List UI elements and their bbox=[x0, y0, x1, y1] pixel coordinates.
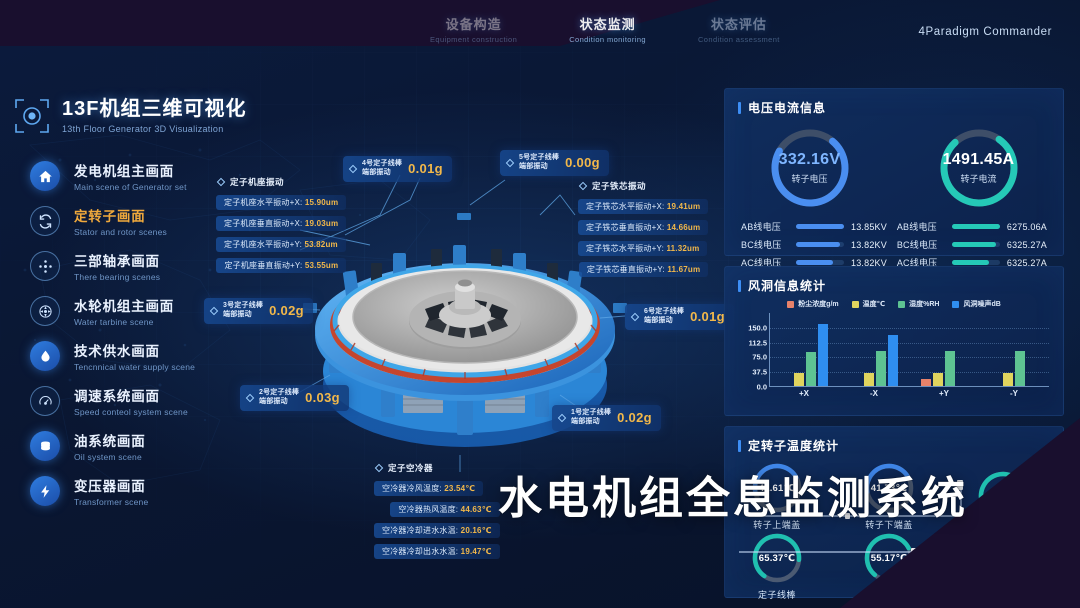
panel-header: 电压电流信息 bbox=[725, 89, 1063, 116]
bar-temperature bbox=[933, 373, 943, 386]
tab-equipment-construction[interactable]: 设备构造 Equipment construction bbox=[430, 14, 517, 44]
row-label: AB线电压 bbox=[741, 220, 789, 233]
gauge-label: 转子电压 bbox=[791, 172, 827, 185]
callout-label-line1: 2号定子线棒 bbox=[259, 389, 299, 398]
sidebar-item-label-en: Tencnnical water supply scene bbox=[74, 362, 195, 372]
row-bar bbox=[796, 260, 844, 265]
bar-group-plus-x bbox=[770, 313, 840, 386]
databox-row: 定子铁芯垂直振动+Y: 11.67um bbox=[579, 262, 708, 277]
bar-chart: 0.0 37.5 75.0 112.5 150.0 bbox=[733, 313, 1057, 405]
legend-item-noise: 风洞噪声dB bbox=[952, 299, 1000, 309]
sidebar-item-label-cn: 技术供水画面 bbox=[74, 340, 195, 360]
diamond-bullet-icon bbox=[579, 182, 587, 190]
y-tick-label: 75.0 bbox=[752, 353, 767, 362]
value-row-ab-current: AB线电压 6275.06A bbox=[897, 220, 1047, 233]
panel-accent-bar bbox=[738, 280, 741, 292]
value-row-bc-current: BC线电压 6325.27A bbox=[897, 238, 1047, 251]
temp-value: 65.37℃ bbox=[749, 530, 805, 586]
bar-temperature bbox=[794, 373, 804, 386]
databox-row-value: 44.63℃ bbox=[461, 505, 492, 514]
sidebar-item-label-cn: 定转子画面 bbox=[74, 205, 167, 225]
sidebar-item-label-en: Oil system scene bbox=[74, 452, 146, 462]
legend-label: 粉尘浓度g/m bbox=[798, 299, 838, 309]
chart-x-axis: +X -X +Y -Y bbox=[769, 389, 1049, 398]
legend-item-dust: 粉尘浓度g/m bbox=[787, 299, 838, 309]
sidebar-item-transformer[interactable]: 变压器画面 Transformer scene bbox=[14, 475, 264, 507]
app-stage: 设备构造 Equipment construction 状态监测 Conditi… bbox=[0, 0, 1080, 608]
databox-rows: 空冷器冷风温度: 23.54℃ 空冷器热风温度: 44.63℃ 空冷器冷却进水水… bbox=[374, 478, 500, 562]
chart-plot-area bbox=[769, 313, 1049, 387]
ring-progress: 55.17℃ bbox=[861, 530, 917, 586]
tab-condition-monitoring[interactable]: 状态监测 Condition monitoring bbox=[569, 14, 646, 44]
databox-row-value: 53.82um bbox=[304, 240, 337, 249]
databox-row-label: 定子铁芯水平振动+X: bbox=[586, 202, 664, 211]
x-tick-label: -Y bbox=[979, 389, 1049, 398]
databox-row-label: 定子铁芯垂直振动+X: bbox=[586, 223, 664, 232]
databox-row-label: 空冷器冷却进水水温: bbox=[382, 526, 458, 535]
callout-stator-bar-1[interactable]: 1号定子线棒 端部振动 0.02g bbox=[552, 405, 661, 431]
databox-row: 定子铁芯垂直振动+X: 14.66um bbox=[578, 220, 708, 235]
panel-title-text: 定转子温度统计 bbox=[748, 437, 839, 454]
gauge-label: 转子电流 bbox=[960, 172, 996, 185]
tab-label-en: Equipment construction bbox=[430, 35, 517, 44]
ring-progress: 41.73℃ bbox=[861, 460, 917, 516]
sidebar-item-label-en: Stator and rotor scenes bbox=[74, 227, 167, 237]
callout-label-line2: 端部振动 bbox=[519, 163, 559, 172]
sidebar-item-generator-main[interactable]: 发电机组主画面 Main scene of Generator set bbox=[14, 160, 264, 192]
databox-row-value: 23.54℃ bbox=[444, 484, 475, 493]
home-icon bbox=[30, 161, 60, 191]
x-tick-label: -X bbox=[839, 389, 909, 398]
y-tick-label: 112.5 bbox=[749, 338, 767, 347]
databox-row-value: 19.41um bbox=[667, 202, 700, 211]
diamond-bullet-icon bbox=[506, 159, 514, 167]
diamond-bullet-icon bbox=[349, 165, 357, 173]
databox-row-label: 空冷器热风温度: bbox=[398, 505, 458, 514]
ring-progress: 65.37℃ bbox=[749, 530, 805, 586]
databox-row: 空冷器冷却出水水温: 19.47℃ bbox=[374, 544, 500, 559]
databox-row: 定子铁芯水平振动+Y: 11.32um bbox=[578, 241, 707, 256]
databox-row: 空冷器冷却进水水温: 20.16℃ bbox=[374, 523, 500, 538]
row-label: AB线电压 bbox=[897, 220, 945, 233]
bar-humidity bbox=[806, 352, 816, 386]
databox-row-label: 定子铁芯水平振动+Y: bbox=[586, 244, 664, 253]
y-tick-label: 37.5 bbox=[752, 368, 767, 377]
gauge-value: 332.16V bbox=[779, 151, 841, 169]
bar-noise bbox=[888, 335, 898, 386]
callout-label-line1: 5号定子线棒 bbox=[519, 154, 559, 163]
panel-voltage-current: 电压电流信息 332.16V 转子电压 1491.45A bbox=[724, 88, 1064, 256]
databox-row-label: 空冷器冷风温度: bbox=[382, 484, 442, 493]
databox-title: 定子铁芯振动 bbox=[592, 180, 646, 192]
gauge-speed-icon bbox=[30, 386, 60, 416]
sidebar-item-bearing[interactable]: 三部轴承画面 There bearing scenes bbox=[14, 250, 264, 282]
page-title: 13F机组三维可视化 13th Floor Generator 3D Visua… bbox=[62, 92, 246, 134]
panel-header: 风洞信息统计 bbox=[725, 267, 1063, 294]
databox-row-value: 19.03um bbox=[305, 219, 338, 228]
x-tick-label: +X bbox=[769, 389, 839, 398]
callout-value: 0.01g bbox=[690, 309, 725, 324]
gauge-value: 1491.45A bbox=[943, 151, 1015, 169]
voltage-value-rows: AB线电压 13.85KV BC线电压 13.82KV AC线电压 13.82K… bbox=[725, 214, 1063, 269]
page-title-row: 13F机组三维可视化 13th Floor Generator 3D Visua… bbox=[14, 92, 264, 134]
databox-row-value: 11.32um bbox=[666, 244, 699, 253]
callout-value: 0.00g bbox=[565, 155, 600, 170]
bar-group-minus-y bbox=[979, 313, 1049, 386]
sidebar-item-label-cn: 油系统画面 bbox=[74, 430, 146, 450]
sidebar-item-label-cn: 调速系统画面 bbox=[74, 385, 188, 405]
databox-row-value: 15.90um bbox=[305, 198, 338, 207]
databox-row-label: 定子铁芯垂直振动+Y: bbox=[587, 265, 665, 274]
sidebar-item-stator-rotor[interactable]: 定转子画面 Stator and rotor scenes bbox=[14, 205, 264, 237]
callout-value: 0.02g bbox=[269, 303, 304, 318]
brand-logo-text: 4Paradigm Commander bbox=[919, 26, 1052, 38]
callout-label-line2: 端部振动 bbox=[644, 317, 684, 326]
voltage-left-column: AB线电压 13.85KV BC线电压 13.82KV AC线电压 13.82K… bbox=[741, 220, 887, 269]
legend-label: 湿度%RH bbox=[909, 299, 939, 309]
sidebar-item-water-supply[interactable]: 技术供水画面 Tencnnical water supply scene bbox=[14, 340, 264, 372]
callout-label-line1: 6号定子线棒 bbox=[644, 308, 684, 317]
databox-stator-air-cooler: 定子空冷器 空冷器冷风温度: 23.54℃ 空冷器热风温度: 44.63℃ 空冷… bbox=[374, 462, 500, 562]
temperature-gauge-grid: 41.61℃ 转子上端盖 41.73℃ 转子下端盖 bbox=[725, 454, 1063, 594]
tab-label-en: Condition monitoring bbox=[569, 35, 646, 44]
y-tick-label: 150.0 bbox=[748, 323, 767, 332]
value-row-ab-voltage: AB线电压 13.85KV bbox=[741, 220, 887, 233]
databox-stator-core-vibration: 定子铁芯振动 定子铁芯水平振动+X: 19.41um 定子铁芯垂直振动+X: 1… bbox=[578, 180, 708, 280]
row-bar bbox=[952, 224, 1000, 229]
row-bar bbox=[796, 224, 844, 229]
panel-title-text: 电压电流信息 bbox=[748, 99, 826, 116]
panel-stator-rotor-temperature: 定转子温度统计 41.61℃ 转子上端盖 bbox=[724, 426, 1064, 598]
panel-title-text: 风洞信息统计 bbox=[748, 277, 826, 294]
databox-row-value: 53.55um bbox=[305, 261, 338, 270]
sidebar-item-water-turbine[interactable]: 水轮机组主画面 Water tarbine scene bbox=[14, 295, 264, 327]
legend-item-temperature: 温度℃ bbox=[852, 299, 885, 309]
temp-gauge-rotor-upper-cover: 41.61℃ 转子上端盖 bbox=[745, 460, 809, 531]
temp-label: 定子线棒 bbox=[745, 588, 809, 601]
row-value: 13.85KV bbox=[851, 222, 887, 232]
panel-header: 定转子温度统计 bbox=[725, 427, 1063, 454]
callout-value: 0.02g bbox=[617, 410, 652, 425]
water-drop-icon bbox=[30, 341, 60, 371]
sidebar-menu[interactable]: 发电机组主画面 Main scene of Generator set 定转子画… bbox=[14, 160, 264, 507]
sidebar-item-label-cn: 三部轴承画面 bbox=[74, 250, 160, 270]
callout-stator-bar-6[interactable]: 6号定子线棒 端部振动 0.01g bbox=[625, 304, 734, 330]
sidebar-item-label-en: There bearing scenes bbox=[74, 272, 160, 282]
diamond-bullet-icon bbox=[375, 464, 383, 472]
sidebar-item-label-en: Speed conteol system scene bbox=[74, 407, 188, 417]
callout-label-line1: 4号定子线棒 bbox=[362, 160, 402, 169]
ring-progress: 61.65℃ bbox=[975, 468, 1031, 524]
sidebar-item-label-en: Water tarbine scene bbox=[74, 317, 174, 327]
gauge-rotor-voltage: 332.16V 转子电压 bbox=[764, 122, 856, 214]
row-value: 6275.06A bbox=[1007, 222, 1047, 232]
chart-bar-groups bbox=[770, 313, 1049, 386]
temp-value: 41.73℃ bbox=[861, 460, 917, 516]
tab-condition-assessment[interactable]: 状态评估 Condition assessment bbox=[698, 14, 780, 44]
sidebar-item-label-en: Transformer scene bbox=[74, 497, 148, 507]
sidebar-item-label-cn: 发电机组主画面 bbox=[74, 160, 187, 180]
bar-humidity bbox=[945, 351, 955, 386]
voltage-right-column: AB线电压 6275.06A BC线电压 6325.27A AC线电压 6325… bbox=[897, 220, 1047, 269]
legend-item-humidity: 湿度%RH bbox=[898, 299, 939, 309]
bar-group-plus-y bbox=[910, 313, 980, 386]
temp-label: 定子上指压 bbox=[857, 588, 921, 601]
page-title-cn: 13F机组三维可视化 bbox=[62, 92, 246, 121]
row-bar bbox=[952, 242, 1000, 247]
databox-row: 空冷器冷风温度: 23.54℃ bbox=[374, 481, 483, 496]
bar-temperature bbox=[864, 373, 874, 386]
callout-stator-bar-4[interactable]: 4号定子线棒 端部振动 0.01g bbox=[343, 156, 452, 182]
tab-label-cn: 设备构造 bbox=[430, 14, 517, 33]
bar-humidity bbox=[876, 351, 886, 386]
databox-header: 定子空冷器 bbox=[374, 462, 500, 474]
temp-value: 55.17℃ bbox=[861, 530, 917, 586]
ring-progress: 41.61℃ bbox=[749, 460, 805, 516]
temp-gauge-partial-clipped: 53 bbox=[977, 538, 1041, 594]
temp-value: 41.61℃ bbox=[749, 460, 805, 516]
callout-label-line2: 端部振动 bbox=[362, 169, 402, 178]
tab-label-en: Condition assessment bbox=[698, 35, 780, 44]
databox-row-value: 11.67um bbox=[667, 265, 700, 274]
refresh-cycle-icon bbox=[30, 206, 60, 236]
databox-row: 空冷器热风温度: 44.63℃ bbox=[390, 502, 499, 517]
bar-group-minus-x bbox=[840, 313, 910, 386]
tab-label-cn: 状态监测 bbox=[569, 14, 646, 33]
callout-label-line2: 端部振动 bbox=[259, 398, 299, 407]
temp-value: 61.65℃ bbox=[975, 468, 1031, 524]
row-value: 6325.27A bbox=[1007, 240, 1047, 250]
sidebar-item-oil-system[interactable]: 油系统画面 Oil system scene bbox=[14, 430, 264, 462]
databox-row-value: 14.66um bbox=[667, 223, 700, 232]
temp-gauge-rotor-core: 61.65℃ 转子铁芯 bbox=[971, 468, 1035, 539]
diamond-bullet-icon bbox=[558, 414, 566, 422]
bar-noise bbox=[818, 324, 828, 386]
row-bar bbox=[952, 260, 1000, 265]
callout-label-line2: 端部振动 bbox=[571, 418, 611, 427]
lightning-bolt-icon bbox=[30, 476, 60, 506]
oil-barrel-icon bbox=[30, 431, 60, 461]
turbine-icon bbox=[30, 296, 60, 326]
legend-label: 温度℃ bbox=[863, 299, 885, 309]
databox-row-value: 20.16℃ bbox=[461, 526, 492, 535]
databox-row: 定子铁芯水平振动+X: 19.41um bbox=[578, 199, 708, 214]
callout-value: 0.03g bbox=[305, 390, 340, 405]
panel-accent-bar bbox=[738, 440, 741, 452]
row-value: 13.82KV bbox=[851, 240, 887, 250]
target-crosshair-icon bbox=[14, 98, 50, 134]
chart-legend: 粉尘浓度g/m 温度℃ 湿度%RH 风洞噪声dB bbox=[725, 299, 1063, 309]
y-tick-label: 0.0 bbox=[757, 383, 767, 392]
page-title-en: 13th Floor Generator 3D Visualization bbox=[62, 124, 246, 134]
databox-row-value: 19.47℃ bbox=[461, 547, 492, 556]
sidebar-item-label-cn: 变压器画面 bbox=[74, 475, 148, 495]
temp-gauge-stator-bar: 65.37℃ 定子线棒 bbox=[745, 530, 809, 601]
header-tabs[interactable]: 设备构造 Equipment construction 状态监测 Conditi… bbox=[430, 14, 780, 44]
callout-stator-bar-5[interactable]: 5号定子线棒 端部振动 0.00g bbox=[500, 150, 609, 176]
databox-header: 定子铁芯振动 bbox=[578, 180, 708, 192]
tab-label-cn: 状态评估 bbox=[698, 14, 780, 33]
top-header: 设备构造 Equipment construction 状态监测 Conditi… bbox=[0, 0, 1080, 48]
chart-y-axis: 0.0 37.5 75.0 112.5 150.0 bbox=[733, 313, 767, 387]
x-tick-label: +Y bbox=[909, 389, 979, 398]
voltage-gauges: 332.16V 转子电压 1491.45A 转子电流 bbox=[725, 122, 1063, 214]
bar-dust bbox=[921, 379, 931, 386]
legend-label: 风洞噪声dB bbox=[963, 299, 1000, 309]
left-panel: 13F机组三维可视化 13th Floor Generator 3D Visua… bbox=[14, 92, 264, 507]
sidebar-item-speed-control[interactable]: 调速系统画面 Speed conteol system scene bbox=[14, 385, 264, 417]
bar-temperature bbox=[1003, 373, 1013, 386]
temp-gauge-stator-upper-finger-pressure: 55.17℃ 定子上指压 bbox=[857, 530, 921, 601]
temp-gauge-rotor-lower-cover: 41.73℃ 转子下端盖 bbox=[857, 460, 921, 531]
sidebar-item-label-cn: 水轮机组主画面 bbox=[74, 295, 174, 315]
sidebar-item-label-en: Main scene of Generator set bbox=[74, 182, 187, 192]
callout-value: 0.01g bbox=[408, 161, 443, 176]
bearing-dots-icon bbox=[30, 251, 60, 281]
databox-rows: 定子铁芯水平振动+X: 19.41um 定子铁芯垂直振动+X: 14.66um … bbox=[578, 196, 708, 280]
callout-label-line1: 1号定子线棒 bbox=[571, 409, 611, 418]
panel-wind-tunnel-stats: 风洞信息统计 粉尘浓度g/m 温度℃ 湿度%RH 风洞噪声dB 0.0 37.5… bbox=[724, 266, 1064, 416]
panel-accent-bar bbox=[738, 102, 741, 114]
row-bar bbox=[796, 242, 844, 247]
gauge-rotor-current: 1491.45A 转子电流 bbox=[933, 122, 1025, 214]
row-label: BC线电压 bbox=[741, 238, 789, 251]
databox-row-label: 空冷器冷却出水水温: bbox=[382, 547, 458, 556]
temp-value: 53 bbox=[981, 538, 1037, 594]
value-row-bc-voltage: BC线电压 13.82KV bbox=[741, 238, 887, 251]
row-label: BC线电压 bbox=[897, 238, 945, 251]
diamond-bullet-icon bbox=[631, 313, 639, 321]
databox-title: 定子空冷器 bbox=[388, 462, 433, 474]
bar-humidity bbox=[1015, 351, 1025, 386]
ring-progress: 53 bbox=[981, 538, 1037, 594]
